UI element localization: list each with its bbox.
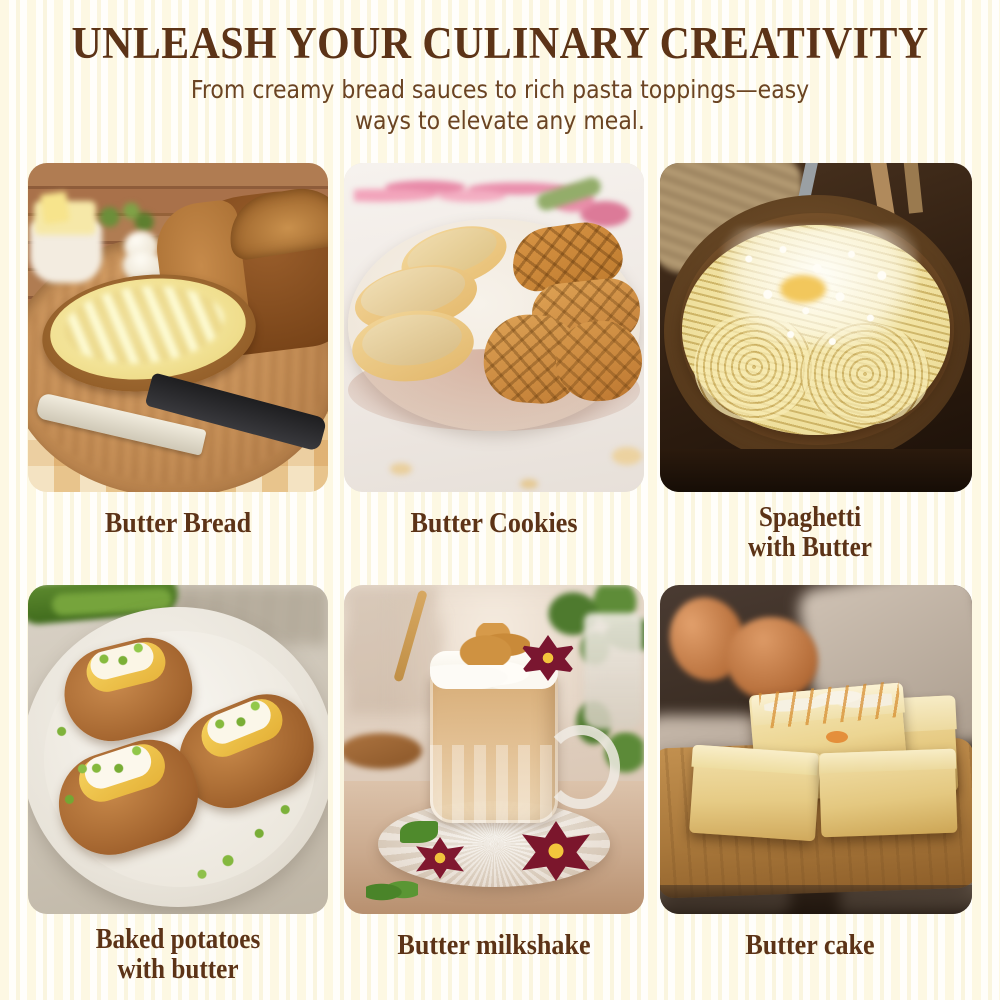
photo-spaghetti-with-butter [660,163,972,492]
caption-butter-milkshake: Butter milkshake [345,930,644,961]
caption-butter-cookies: Butter Cookies [345,508,644,539]
poster-header: UNLEASH YOUR CULINARY CREATIVITY From cr… [0,0,1000,150]
caption-baked-potatoes-with-butter: Baked potatoes with butter [29,925,328,985]
grid-item-baked-potatoes-with-butter[interactable]: Baked potatoes with butter [28,585,328,914]
photo-butter-milkshake [344,585,644,914]
grid-item-butter-cake[interactable]: Butter cake [660,585,972,914]
page-subtitle: From creamy bread sauces to rich pasta t… [60,68,940,136]
grid-item-butter-milkshake[interactable]: Butter milkshake [344,585,644,914]
photo-baked-potatoes-with-butter [28,585,328,914]
grid-item-butter-cookies[interactable]: Butter Cookies [344,163,644,492]
photo-butter-cookies [344,163,644,492]
caption-butter-cake: Butter cake [661,930,960,961]
subtitle-line-1: From creamy bread sauces to rich pasta t… [60,74,940,105]
caption-line-2: with Butter [661,533,960,563]
caption-line-1: Baked potatoes [29,925,328,955]
caption-spaghetti-with-butter: Spaghetti with Butter [661,503,960,563]
caption-line-2: with butter [29,955,328,985]
grid-item-spaghetti-with-butter[interactable]: Spaghetti with Butter [660,163,972,492]
photo-butter-bread [28,163,328,492]
subtitle-line-2: ways to elevate any meal. [60,105,940,136]
grid-item-butter-bread[interactable]: Butter Bread [28,163,328,492]
caption-butter-bread: Butter Bread [29,508,328,539]
caption-line-1: Spaghetti [661,503,960,533]
poster-root: UNLEASH YOUR CULINARY CREATIVITY From cr… [0,0,1000,1000]
photo-butter-cake [660,585,972,914]
page-title: UNLEASH YOUR CULINARY CREATIVITY [35,0,965,68]
